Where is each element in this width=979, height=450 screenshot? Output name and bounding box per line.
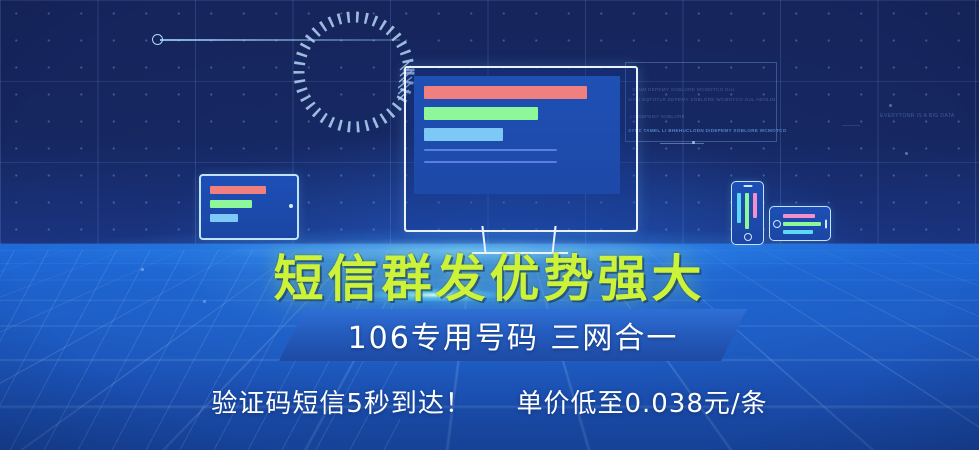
tagline-left: 验证码短信5秒到达！: [211, 389, 472, 419]
decor-text-line: SYNC TAMEL LI BHEHUCLODN DIDEPEMY SOBLOR…: [628, 127, 787, 135]
decor-dot: [889, 104, 892, 107]
monitor-line-2: [424, 161, 557, 163]
phone-horizontal: [769, 206, 831, 241]
tablet-home-button-icon: [289, 204, 293, 208]
tagline-right: 单价低至0.038元/条: [516, 389, 767, 419]
tablet-device: [199, 174, 299, 240]
monitor-screen: [414, 76, 620, 194]
phone-h-bar-cyan: [783, 230, 813, 234]
promo-banner: SKUM DEPEMY SOBLORE WCMOTCO GUL WHLI EQF…: [0, 0, 979, 450]
phone-speaker-icon: [743, 185, 752, 187]
decor-line: [660, 143, 704, 144]
connector-node-icon: [152, 34, 163, 45]
decor-text-line: LO DEFEMY SOBLORE: [630, 113, 685, 121]
phone-h-bar-pink: [783, 214, 815, 218]
phone-v-bar-green: [745, 193, 749, 229]
phone-speaker-icon: [825, 219, 827, 228]
phone-v-bar-pink: [753, 193, 757, 218]
ribbon-banner: 106专用号码 三网合一: [279, 309, 747, 361]
phone-v-bar-cyan: [737, 193, 741, 223]
phone-vertical: [731, 181, 764, 245]
ribbon-label: 106专用号码 三网合一: [279, 309, 747, 361]
decor-dot: [692, 141, 695, 144]
phone-h-bar-green: [783, 222, 821, 226]
tablet-bar-red: [210, 186, 266, 194]
decor-text-line: WHLI EQFOTLR DEPEMY SOBLORE WCMOTCO GUL …: [628, 96, 776, 104]
tagline: 验证码短信5秒到达！ 单价低至0.038元/条: [0, 383, 979, 420]
phone-home-button-icon: [773, 220, 781, 228]
monitor-line-1: [424, 149, 557, 151]
decor-text-line: SKUM DEPEMY SOBLORE WCMOTCO GUL: [632, 86, 735, 94]
monitor-bar-green: [424, 107, 538, 120]
desktop-monitor: [404, 66, 638, 232]
decor-dot: [905, 152, 908, 155]
monitor-bar-blue: [424, 128, 503, 141]
tablet-bar-blue: [210, 214, 238, 222]
decor-text-line: EVERYTONR IS A BIG DATA: [880, 112, 955, 120]
decor-line: [842, 125, 860, 126]
monitor-bar-red: [424, 86, 587, 99]
page-title: 短信群发优势强大: [0, 239, 979, 311]
tablet-bar-green: [210, 200, 252, 208]
